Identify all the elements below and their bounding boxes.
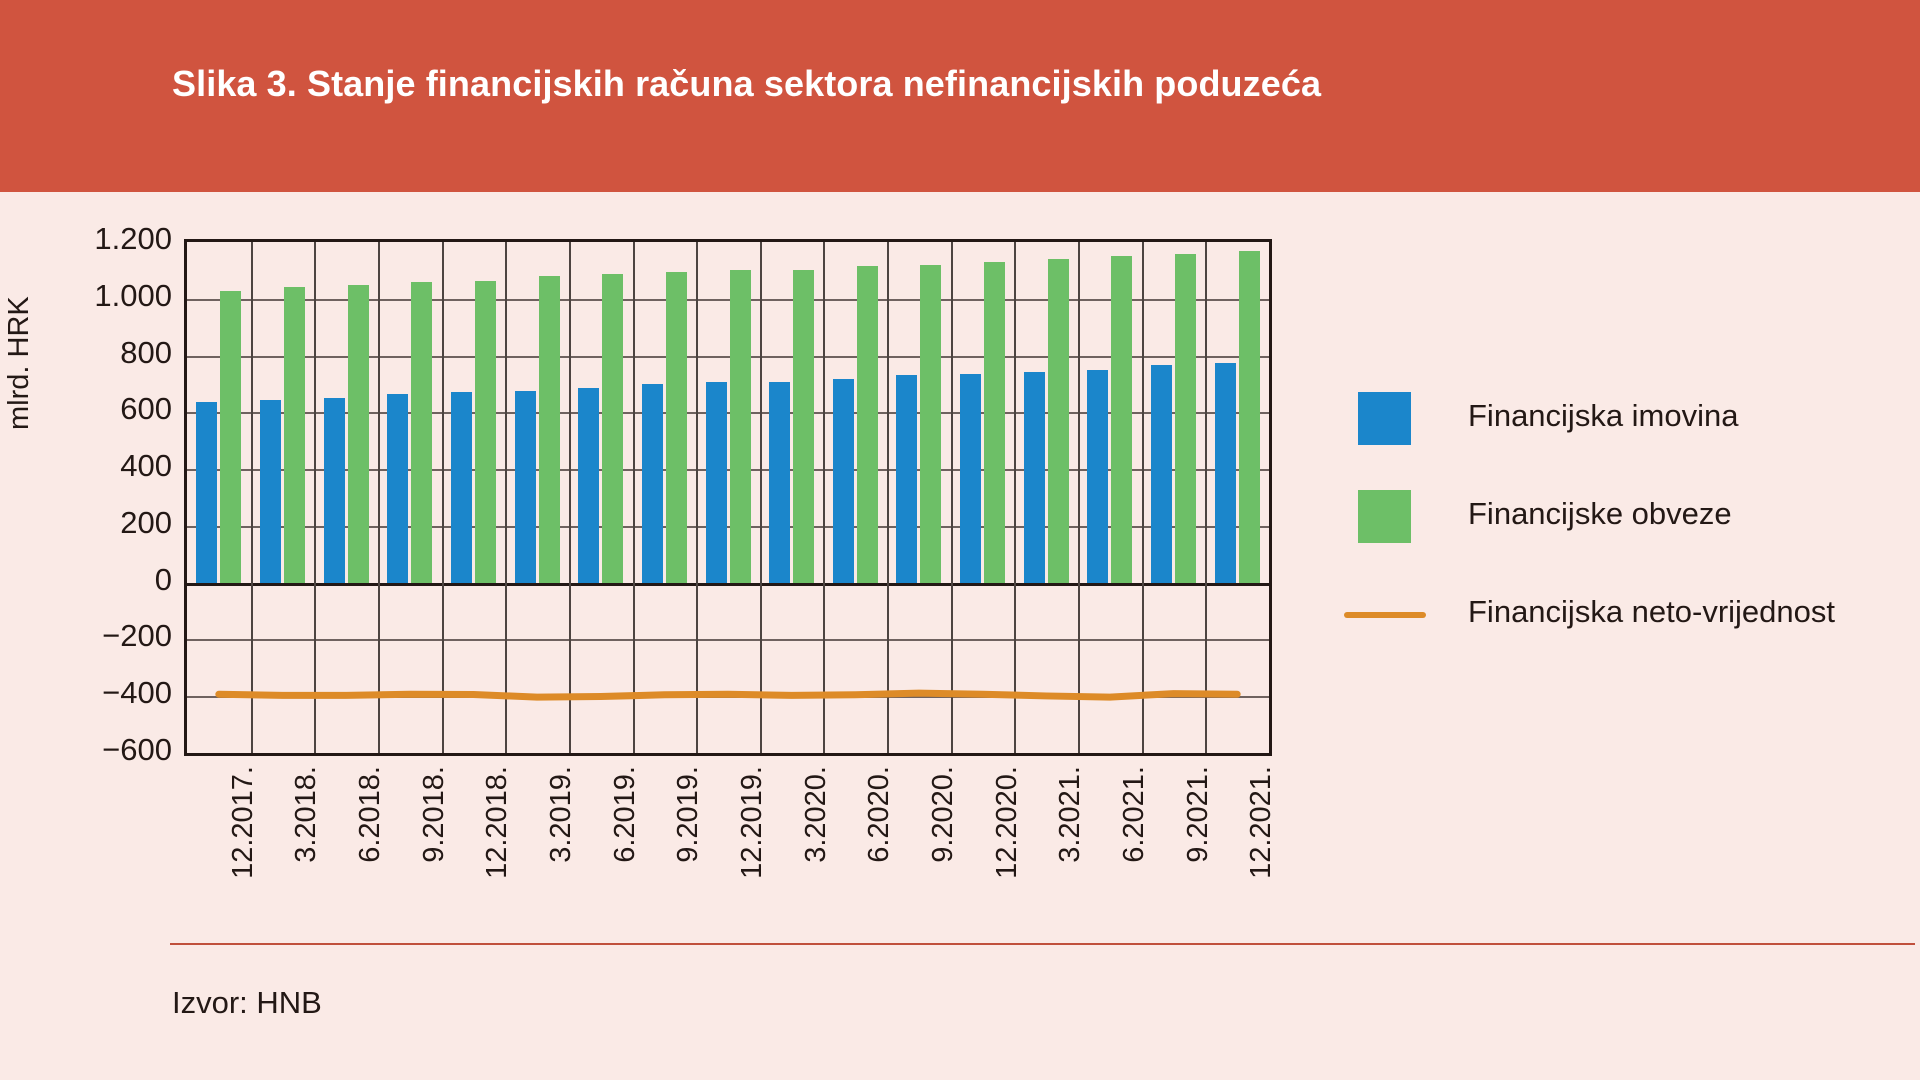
legend-line-icon bbox=[1344, 612, 1426, 618]
page-title: Slika 3. Stanje financijskih računa sekt… bbox=[172, 63, 1321, 105]
y-tick-label: 200 bbox=[22, 507, 172, 538]
title-band: Slika 3. Stanje financijskih računa sekt… bbox=[0, 0, 1920, 192]
x-tick-label: 9.2019. bbox=[672, 766, 705, 863]
x-tick-label: 12.2021. bbox=[1245, 766, 1278, 879]
y-tick-label: −200 bbox=[22, 620, 172, 651]
y-tick-label: 600 bbox=[22, 393, 172, 424]
legend-square-icon bbox=[1358, 490, 1411, 543]
x-tick-label: 6.2020. bbox=[863, 766, 896, 863]
legend-item[interactable]: Financijske obveze bbox=[1358, 476, 1878, 574]
y-tick-label: −600 bbox=[22, 734, 172, 765]
figure-root: Slika 3. Stanje financijskih računa sekt… bbox=[0, 0, 1920, 1080]
plot-area bbox=[184, 239, 1272, 756]
x-tick-label: 9.2021. bbox=[1182, 766, 1215, 863]
x-tick-label: 3.2019. bbox=[545, 766, 578, 863]
net-worth-line bbox=[187, 242, 1269, 753]
x-tick-label: 6.2021. bbox=[1118, 766, 1151, 863]
x-tick-label: 12.2017. bbox=[227, 766, 260, 879]
y-tick-label: 0 bbox=[22, 564, 172, 595]
x-tick-label: 6.2018. bbox=[354, 766, 387, 863]
y-tick-label: 400 bbox=[22, 450, 172, 481]
source-note: Izvor: HNB bbox=[172, 985, 322, 1021]
chart-legend: Financijska imovinaFinancijske obvezeFin… bbox=[1358, 378, 1878, 672]
x-tick-label: 12.2018. bbox=[481, 766, 514, 879]
x-tick-label: 3.2021. bbox=[1054, 766, 1087, 863]
y-tick-label: −400 bbox=[22, 677, 172, 708]
legend-label: Financijske obveze bbox=[1468, 496, 1732, 532]
y-tick-label: 800 bbox=[22, 337, 172, 368]
legend-item[interactable]: Financijska imovina bbox=[1358, 378, 1878, 476]
x-tick-label: 12.2020. bbox=[991, 766, 1024, 879]
y-axis-ticks: 1.2001.0008006004002000−200−400−600 bbox=[12, 239, 172, 756]
x-tick-label: 3.2018. bbox=[290, 766, 323, 863]
net-worth-line-layer bbox=[187, 242, 1269, 753]
x-axis-ticks: 12.2017.3.2018.6.2018.9.2018.12.2018.3.2… bbox=[184, 766, 1272, 916]
x-tick-label: 3.2020. bbox=[800, 766, 833, 863]
y-tick-label: 1.000 bbox=[22, 280, 172, 311]
footer-divider bbox=[170, 943, 1915, 945]
x-tick-label: 9.2018. bbox=[418, 766, 451, 863]
legend-square-icon bbox=[1358, 392, 1411, 445]
legend-label: Financijska imovina bbox=[1468, 398, 1739, 434]
legend-item[interactable]: Financijska neto-vrijednost bbox=[1358, 574, 1878, 672]
y-tick-label: 1.200 bbox=[22, 223, 172, 254]
x-tick-label: 6.2019. bbox=[609, 766, 642, 863]
x-tick-label: 12.2019. bbox=[736, 766, 769, 879]
legend-label: Financijska neto-vrijednost bbox=[1468, 594, 1835, 630]
x-tick-label: 9.2020. bbox=[927, 766, 960, 863]
